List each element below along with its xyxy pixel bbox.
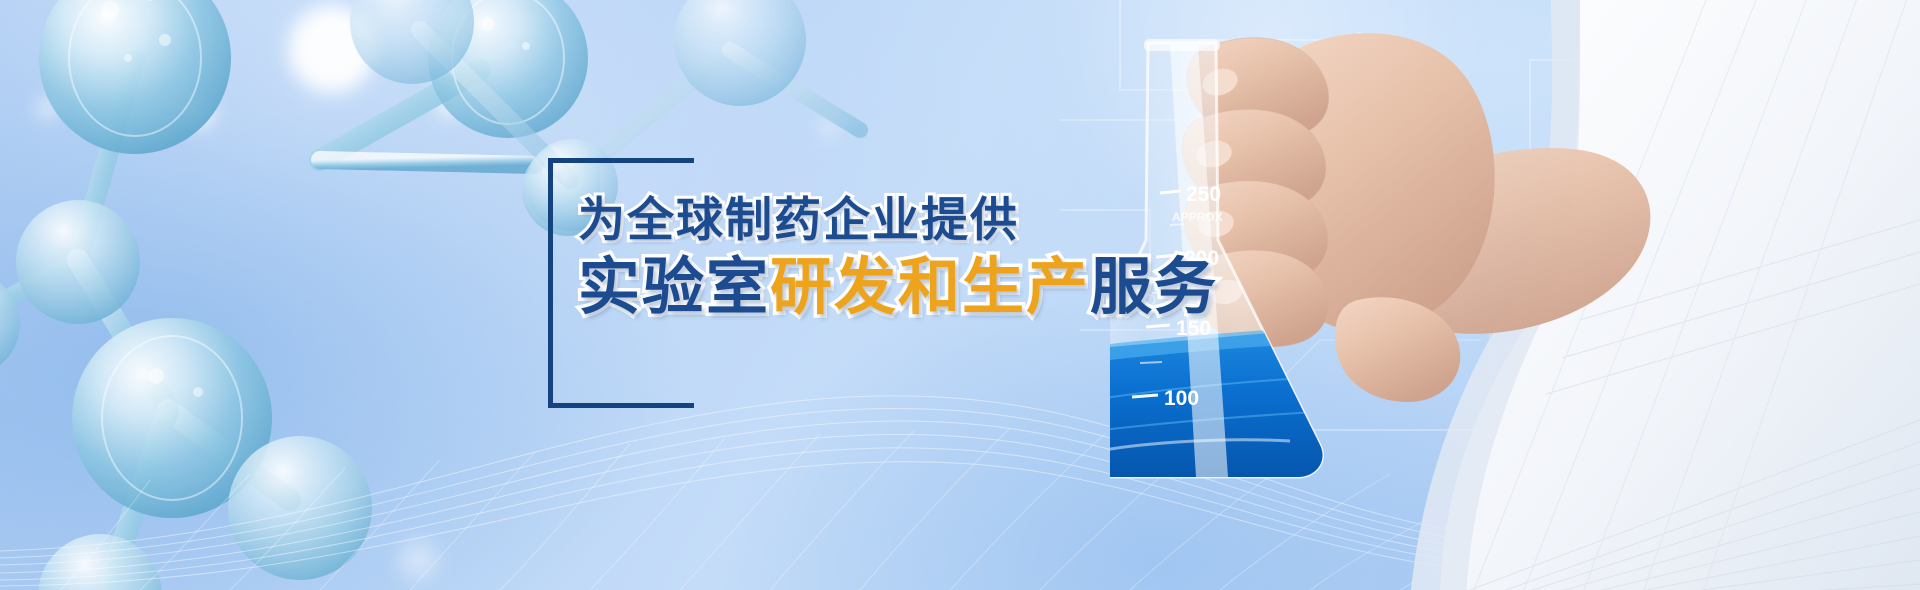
headline-segment-service: 服务: [1090, 253, 1218, 322]
headline-block: 为全球制药企业提供 实验室研发和生产服务: [578, 196, 1338, 319]
hero-banner: 250 200 150 100 APPROX 为全球制药企业提供 实验室研发和生…: [0, 0, 1920, 590]
headline-segment-lab: 实验室: [578, 253, 770, 322]
headline-line-1: 为全球制药企业提供: [578, 196, 1338, 243]
headline-segment-rnd: 研发和生产: [770, 253, 1090, 322]
headline-line-2: 实验室研发和生产服务: [578, 257, 1338, 319]
